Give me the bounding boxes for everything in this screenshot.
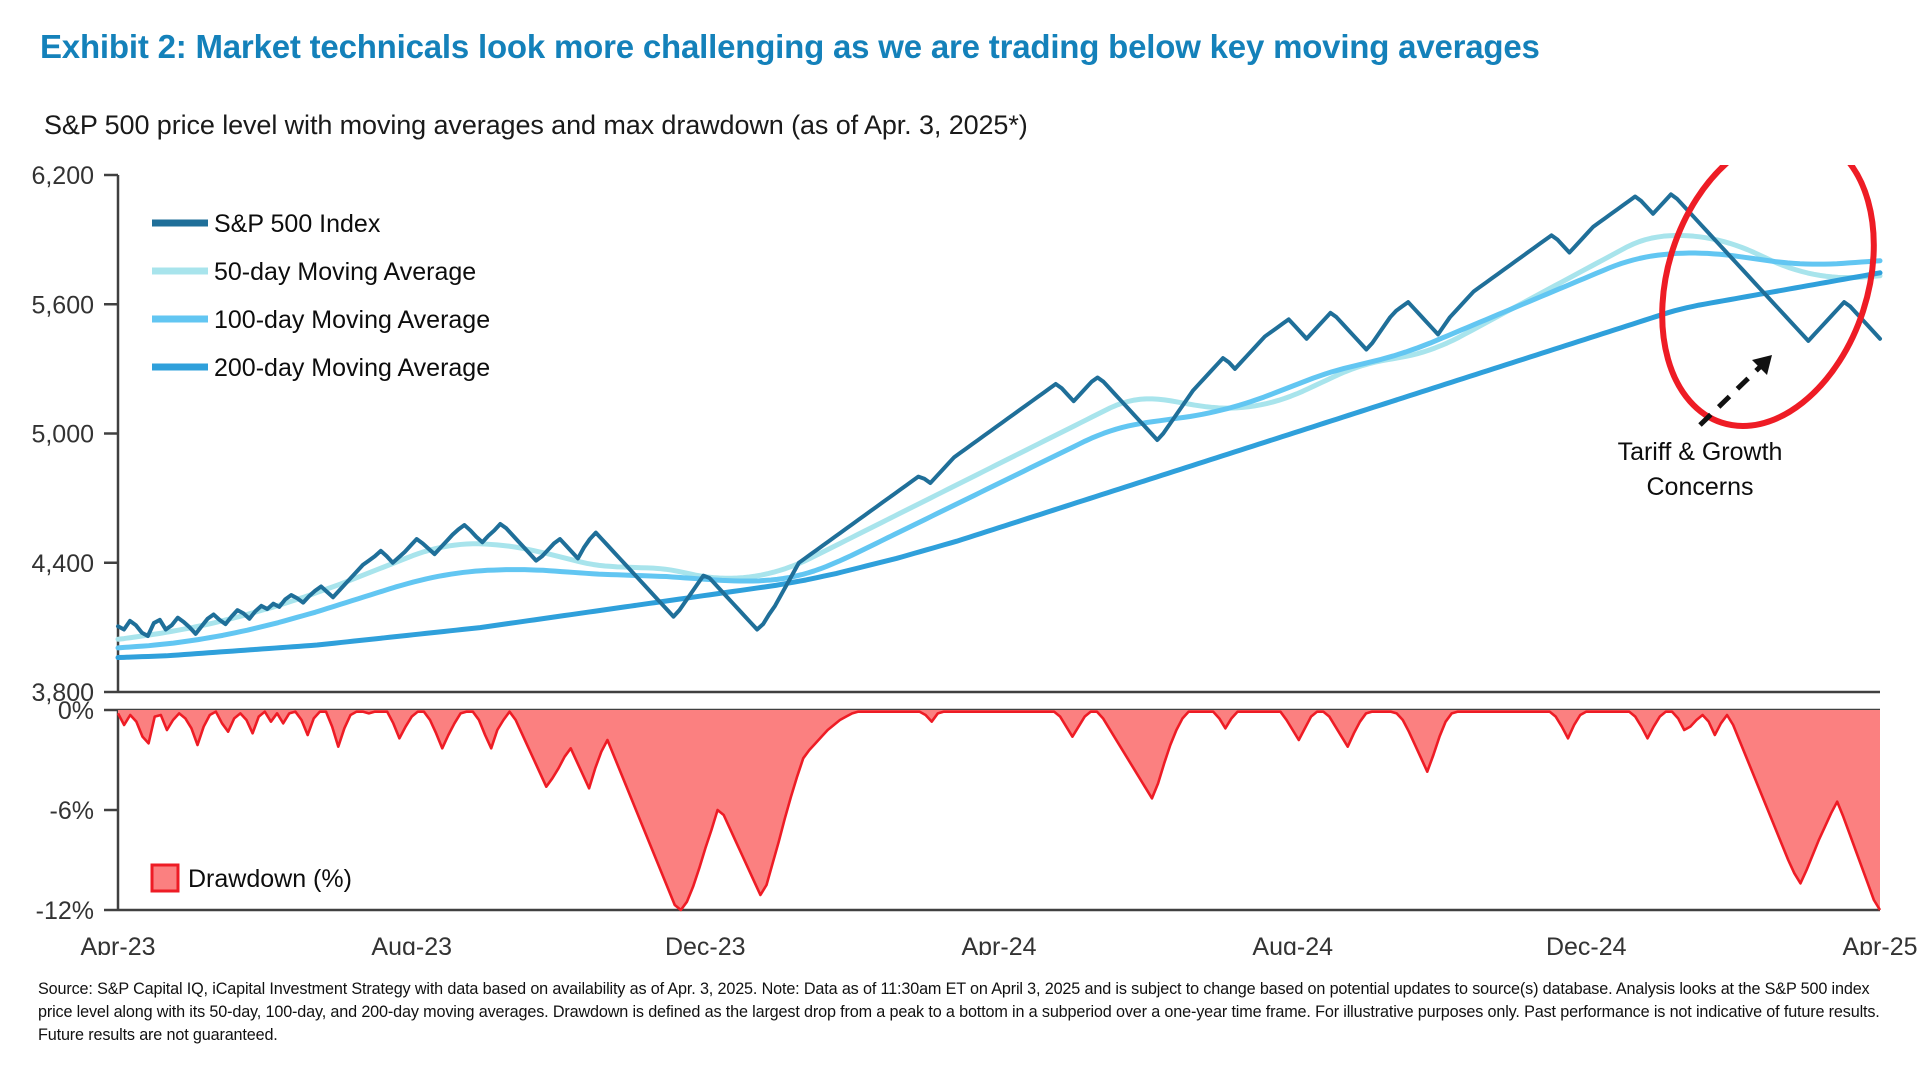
legend-item-label[interactable]: 50-day Moving Average [214, 258, 476, 286]
sp500-technicals-chart: 3,8004,4005,0005,6006,200 S&P 500 Index5… [0, 165, 1920, 955]
annotation-arrow [1700, 355, 1772, 425]
drawdown-area-group [118, 710, 1880, 910]
drawdown-legend-label[interactable]: Drawdown (%) [188, 865, 352, 893]
x-axis-tick-label: Apr-24 [961, 933, 1036, 955]
drawdown-legend: Drawdown (%) [152, 865, 352, 893]
series-line-50-day-moving-average [118, 236, 1880, 640]
chart-canvas: 3,8004,4005,0005,6006,200 S&P 500 Index5… [0, 165, 1920, 955]
drawdown-panel: 0%-6%-12% Drawdown (%) [36, 697, 1880, 925]
price-panel: 3,8004,4005,0005,6006,200 S&P 500 Index5… [31, 165, 1880, 707]
price-y-tick-label: 4,400 [31, 550, 94, 578]
price-axis-ticks: 3,8004,4005,0005,6006,200 [31, 165, 118, 707]
page-title: Exhibit 2: Market technicals look more c… [40, 28, 1540, 66]
legend-item-label[interactable]: S&P 500 Index [214, 210, 381, 238]
drawdown-axis-ticks: 0%-6%-12% [36, 697, 118, 925]
drawdown-area [118, 710, 1880, 910]
annotation-arrow-line [1700, 365, 1762, 425]
price-y-tick-label: 6,200 [31, 165, 94, 190]
source-footnote: Source: S&P Capital IQ, iCapital Investm… [38, 978, 1898, 1047]
x-axis-labels: Apr-23Aug-23Dec-23Apr-24Aug-24Dec-24Apr-… [80, 933, 1917, 955]
annotation-line-1: Tariff & Growth [1618, 438, 1783, 466]
exhibit-page: Exhibit 2: Market technicals look more c… [0, 0, 1920, 1080]
annotation-line-2: Concerns [1647, 473, 1754, 501]
drawdown-y-tick-label: -6% [50, 797, 94, 825]
drawdown-y-tick-label: 0% [58, 697, 94, 725]
legend-item-label[interactable]: 200-day Moving Average [214, 354, 490, 382]
chart-legend: S&P 500 Index50-day Moving Average100-da… [152, 210, 490, 382]
x-axis-tick-label: Aug-23 [371, 933, 452, 955]
drawdown-legend-swatch [152, 865, 178, 891]
x-axis-tick-label: Apr-25 [1842, 933, 1917, 955]
x-axis-tick-label: Dec-24 [1546, 933, 1627, 955]
annotation-arrow-head [1752, 355, 1772, 375]
highlight-ellipse [1627, 165, 1910, 454]
x-axis-tick-label: Dec-23 [665, 933, 746, 955]
chart-subtitle: S&P 500 price level with moving averages… [44, 110, 1028, 141]
x-axis-tick-label: Aug-24 [1252, 933, 1333, 955]
drawdown-outline [118, 712, 1880, 910]
price-y-tick-label: 5,000 [31, 421, 94, 449]
x-axis-tick-label: Apr-23 [80, 933, 155, 955]
drawdown-y-tick-label: -12% [36, 897, 94, 925]
legend-item-label[interactable]: 100-day Moving Average [214, 306, 490, 334]
price-y-tick-label: 5,600 [31, 291, 94, 319]
